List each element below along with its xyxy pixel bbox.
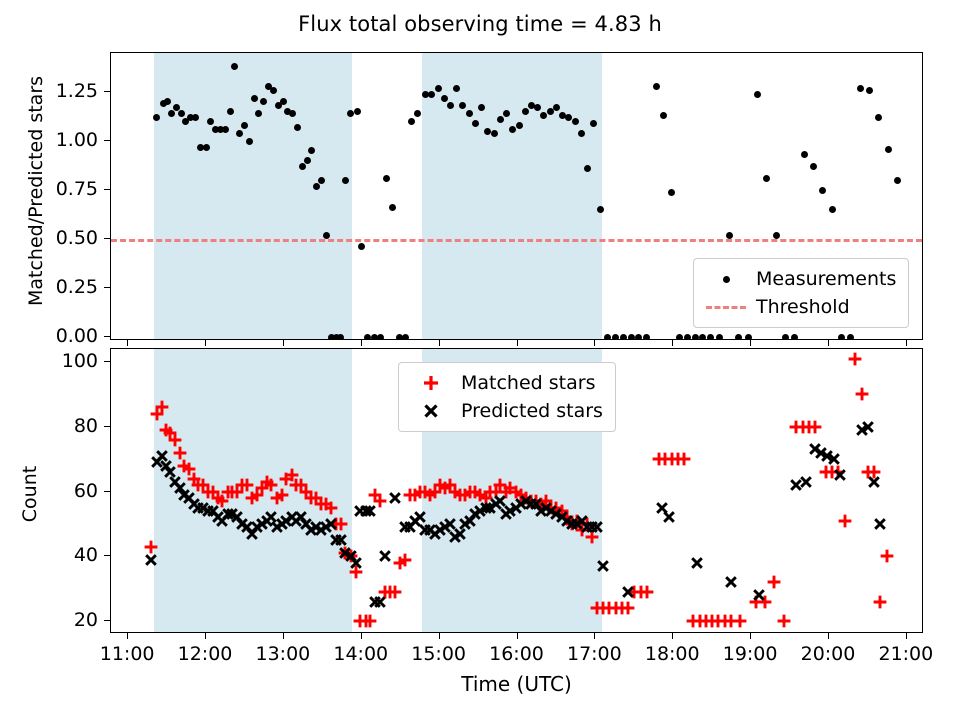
data-point-measurement xyxy=(754,91,761,98)
x-tick-label: 21:00 xyxy=(878,643,933,665)
x-tick-label: 19:00 xyxy=(723,643,778,665)
data-point-measurement xyxy=(313,183,320,190)
data-point-measurement xyxy=(251,95,258,102)
data-point-measurement xyxy=(597,206,604,213)
y-tick-bottom xyxy=(104,426,110,427)
x-tick-bottom xyxy=(517,633,518,639)
y-tick-label-bottom: 100 xyxy=(62,350,98,372)
x-tick-top xyxy=(439,340,440,346)
data-point-measurement xyxy=(885,146,892,153)
data-point-measurement xyxy=(660,112,667,119)
x-tick-bottom xyxy=(205,633,206,639)
data-point-measurement xyxy=(497,116,504,123)
y-tick-label-bottom: 80 xyxy=(74,415,98,437)
data-point-measurement xyxy=(383,175,390,182)
x-tick-bottom xyxy=(439,633,440,639)
x-tick-top xyxy=(672,340,673,346)
x-axis-label: Time (UTC) xyxy=(110,672,923,696)
x-tick-bottom xyxy=(127,633,128,639)
data-point-measurement xyxy=(236,130,243,137)
y-tick-label-top: 1.25 xyxy=(56,80,98,102)
legend-top: Measurements Threshold xyxy=(693,258,909,328)
data-point-measurement xyxy=(578,130,585,137)
y-tick-label-bottom: 20 xyxy=(74,609,98,631)
y-tick-bottom xyxy=(104,361,110,362)
y-tick-label-top: 0.00 xyxy=(56,325,98,347)
data-point-measurement xyxy=(466,110,473,117)
x-tick-top xyxy=(750,340,751,346)
x-tick-bottom xyxy=(283,633,284,639)
x-tick-bottom xyxy=(750,633,751,639)
y-tick-top xyxy=(104,336,110,337)
y-tick-top xyxy=(104,140,110,141)
legend-label-threshold: Threshold xyxy=(750,296,850,318)
x-tick-label: 14:00 xyxy=(333,643,388,665)
data-point-measurement xyxy=(270,87,277,94)
legend-entry-threshold: Threshold xyxy=(702,293,896,321)
data-point-measurement xyxy=(192,114,199,121)
x-tick-top xyxy=(906,340,907,346)
data-point-measurement xyxy=(522,108,529,115)
x-axis-bottom-ticks: 11:0012:0013:0014:0015:0016:0017:0018:00… xyxy=(110,633,923,673)
legend-entry-predicted-stars: Predicted stars xyxy=(407,397,603,425)
y-tick-label-top: 1.00 xyxy=(56,129,98,151)
data-point-measurement xyxy=(857,85,864,92)
data-point-measurement xyxy=(222,126,229,133)
predicted-stars-marker-icon xyxy=(407,401,455,421)
y-tick-top xyxy=(104,287,110,288)
x-tick-label: 15:00 xyxy=(411,643,466,665)
data-point-measurement xyxy=(408,118,415,125)
x-tick-label: 18:00 xyxy=(645,643,700,665)
measurements-marker-icon xyxy=(702,276,750,283)
y-tick-bottom xyxy=(104,620,110,621)
data-point-measurement xyxy=(304,157,311,164)
x-tick-bottom xyxy=(906,633,907,639)
y-tick-top xyxy=(104,91,110,92)
x-tick-top xyxy=(594,340,595,346)
data-point-measurement xyxy=(516,122,523,129)
x-tick-label: 13:00 xyxy=(255,643,310,665)
data-point-measurement xyxy=(763,175,770,182)
x-tick-label: 20:00 xyxy=(801,643,856,665)
legend-label-predicted-stars: Predicted stars xyxy=(455,400,603,422)
matched-stars-marker-icon xyxy=(407,373,455,393)
x-tick-bottom xyxy=(828,633,829,639)
data-point-measurement xyxy=(453,85,460,92)
chart-title: Flux total observing time = 4.83 h xyxy=(0,12,960,36)
data-point-measurement xyxy=(726,232,733,239)
x-tick-top xyxy=(517,340,518,346)
data-point-measurement xyxy=(894,177,901,184)
data-point-measurement xyxy=(294,124,301,131)
x-tick-label: 17:00 xyxy=(567,643,622,665)
data-point-measurement xyxy=(227,108,234,115)
data-point-measurement xyxy=(354,108,361,115)
y-tick-label-top: 0.50 xyxy=(56,227,98,249)
y-tick-top xyxy=(104,238,110,239)
shaded-region-2 xyxy=(422,53,601,339)
y-tick-bottom xyxy=(104,555,110,556)
x-tick-top xyxy=(205,340,206,346)
figure-root: Flux total observing time = 4.83 h 0.000… xyxy=(0,0,960,720)
x-tick-bottom xyxy=(361,633,362,639)
x-tick-top xyxy=(828,340,829,346)
y-tick-top xyxy=(104,189,110,190)
data-point-measurement xyxy=(829,206,836,213)
data-point-measurement xyxy=(153,114,160,121)
data-point-measurement xyxy=(472,120,479,127)
x-tick-bottom xyxy=(672,633,673,639)
threshold-line xyxy=(111,239,922,242)
data-point-measurement xyxy=(572,118,579,125)
data-point-measurement xyxy=(428,91,435,98)
data-point-measurement xyxy=(441,95,448,102)
data-point-measurement xyxy=(810,163,817,170)
data-point-measurement xyxy=(323,232,330,239)
x-axis-top-ticks xyxy=(110,340,923,348)
x-tick-label: 11:00 xyxy=(100,643,155,665)
threshold-line-icon xyxy=(702,306,750,309)
legend-label-matched-stars: Matched stars xyxy=(455,372,595,394)
x-tick-label: 16:00 xyxy=(489,643,544,665)
data-point-measurement xyxy=(246,138,253,145)
y-tick-bottom xyxy=(104,491,110,492)
data-point-measurement xyxy=(653,83,660,90)
y-axis-label-top: Matched/Predicted stars xyxy=(25,41,47,341)
legend-label-measurements: Measurements xyxy=(750,268,896,290)
x-tick-top xyxy=(283,340,284,346)
data-point-measurement xyxy=(358,243,365,250)
data-point-measurement xyxy=(342,177,349,184)
data-point-measurement xyxy=(203,144,210,151)
data-point-measurement xyxy=(318,177,325,184)
legend-entry-matched-stars: Matched stars xyxy=(407,369,603,397)
y-tick-label-bottom: 60 xyxy=(74,480,98,502)
y-tick-label-bottom: 40 xyxy=(74,544,98,566)
data-point-measurement xyxy=(819,187,826,194)
data-point-measurement xyxy=(866,87,873,94)
data-point-measurement xyxy=(435,85,442,92)
data-point-measurement xyxy=(801,151,808,158)
data-point-measurement xyxy=(773,232,780,239)
data-point-measurement xyxy=(668,189,675,196)
data-point-measurement xyxy=(178,110,185,117)
legend-bottom: Matched stars Predicted stars xyxy=(398,362,616,432)
x-tick-bottom xyxy=(594,633,595,639)
x-tick-top xyxy=(361,340,362,346)
x-tick-top xyxy=(127,340,128,346)
x-tick-label: 12:00 xyxy=(178,643,233,665)
data-point-measurement xyxy=(389,204,396,211)
y-tick-label-top: 0.25 xyxy=(56,276,98,298)
data-point-measurement xyxy=(875,114,882,121)
data-point-measurement xyxy=(414,110,421,117)
legend-entry-measurements: Measurements xyxy=(702,265,896,293)
data-point-measurement xyxy=(491,130,498,137)
y-axis-label-bottom: Count xyxy=(19,364,41,624)
y-tick-label-top: 0.75 xyxy=(56,178,98,200)
